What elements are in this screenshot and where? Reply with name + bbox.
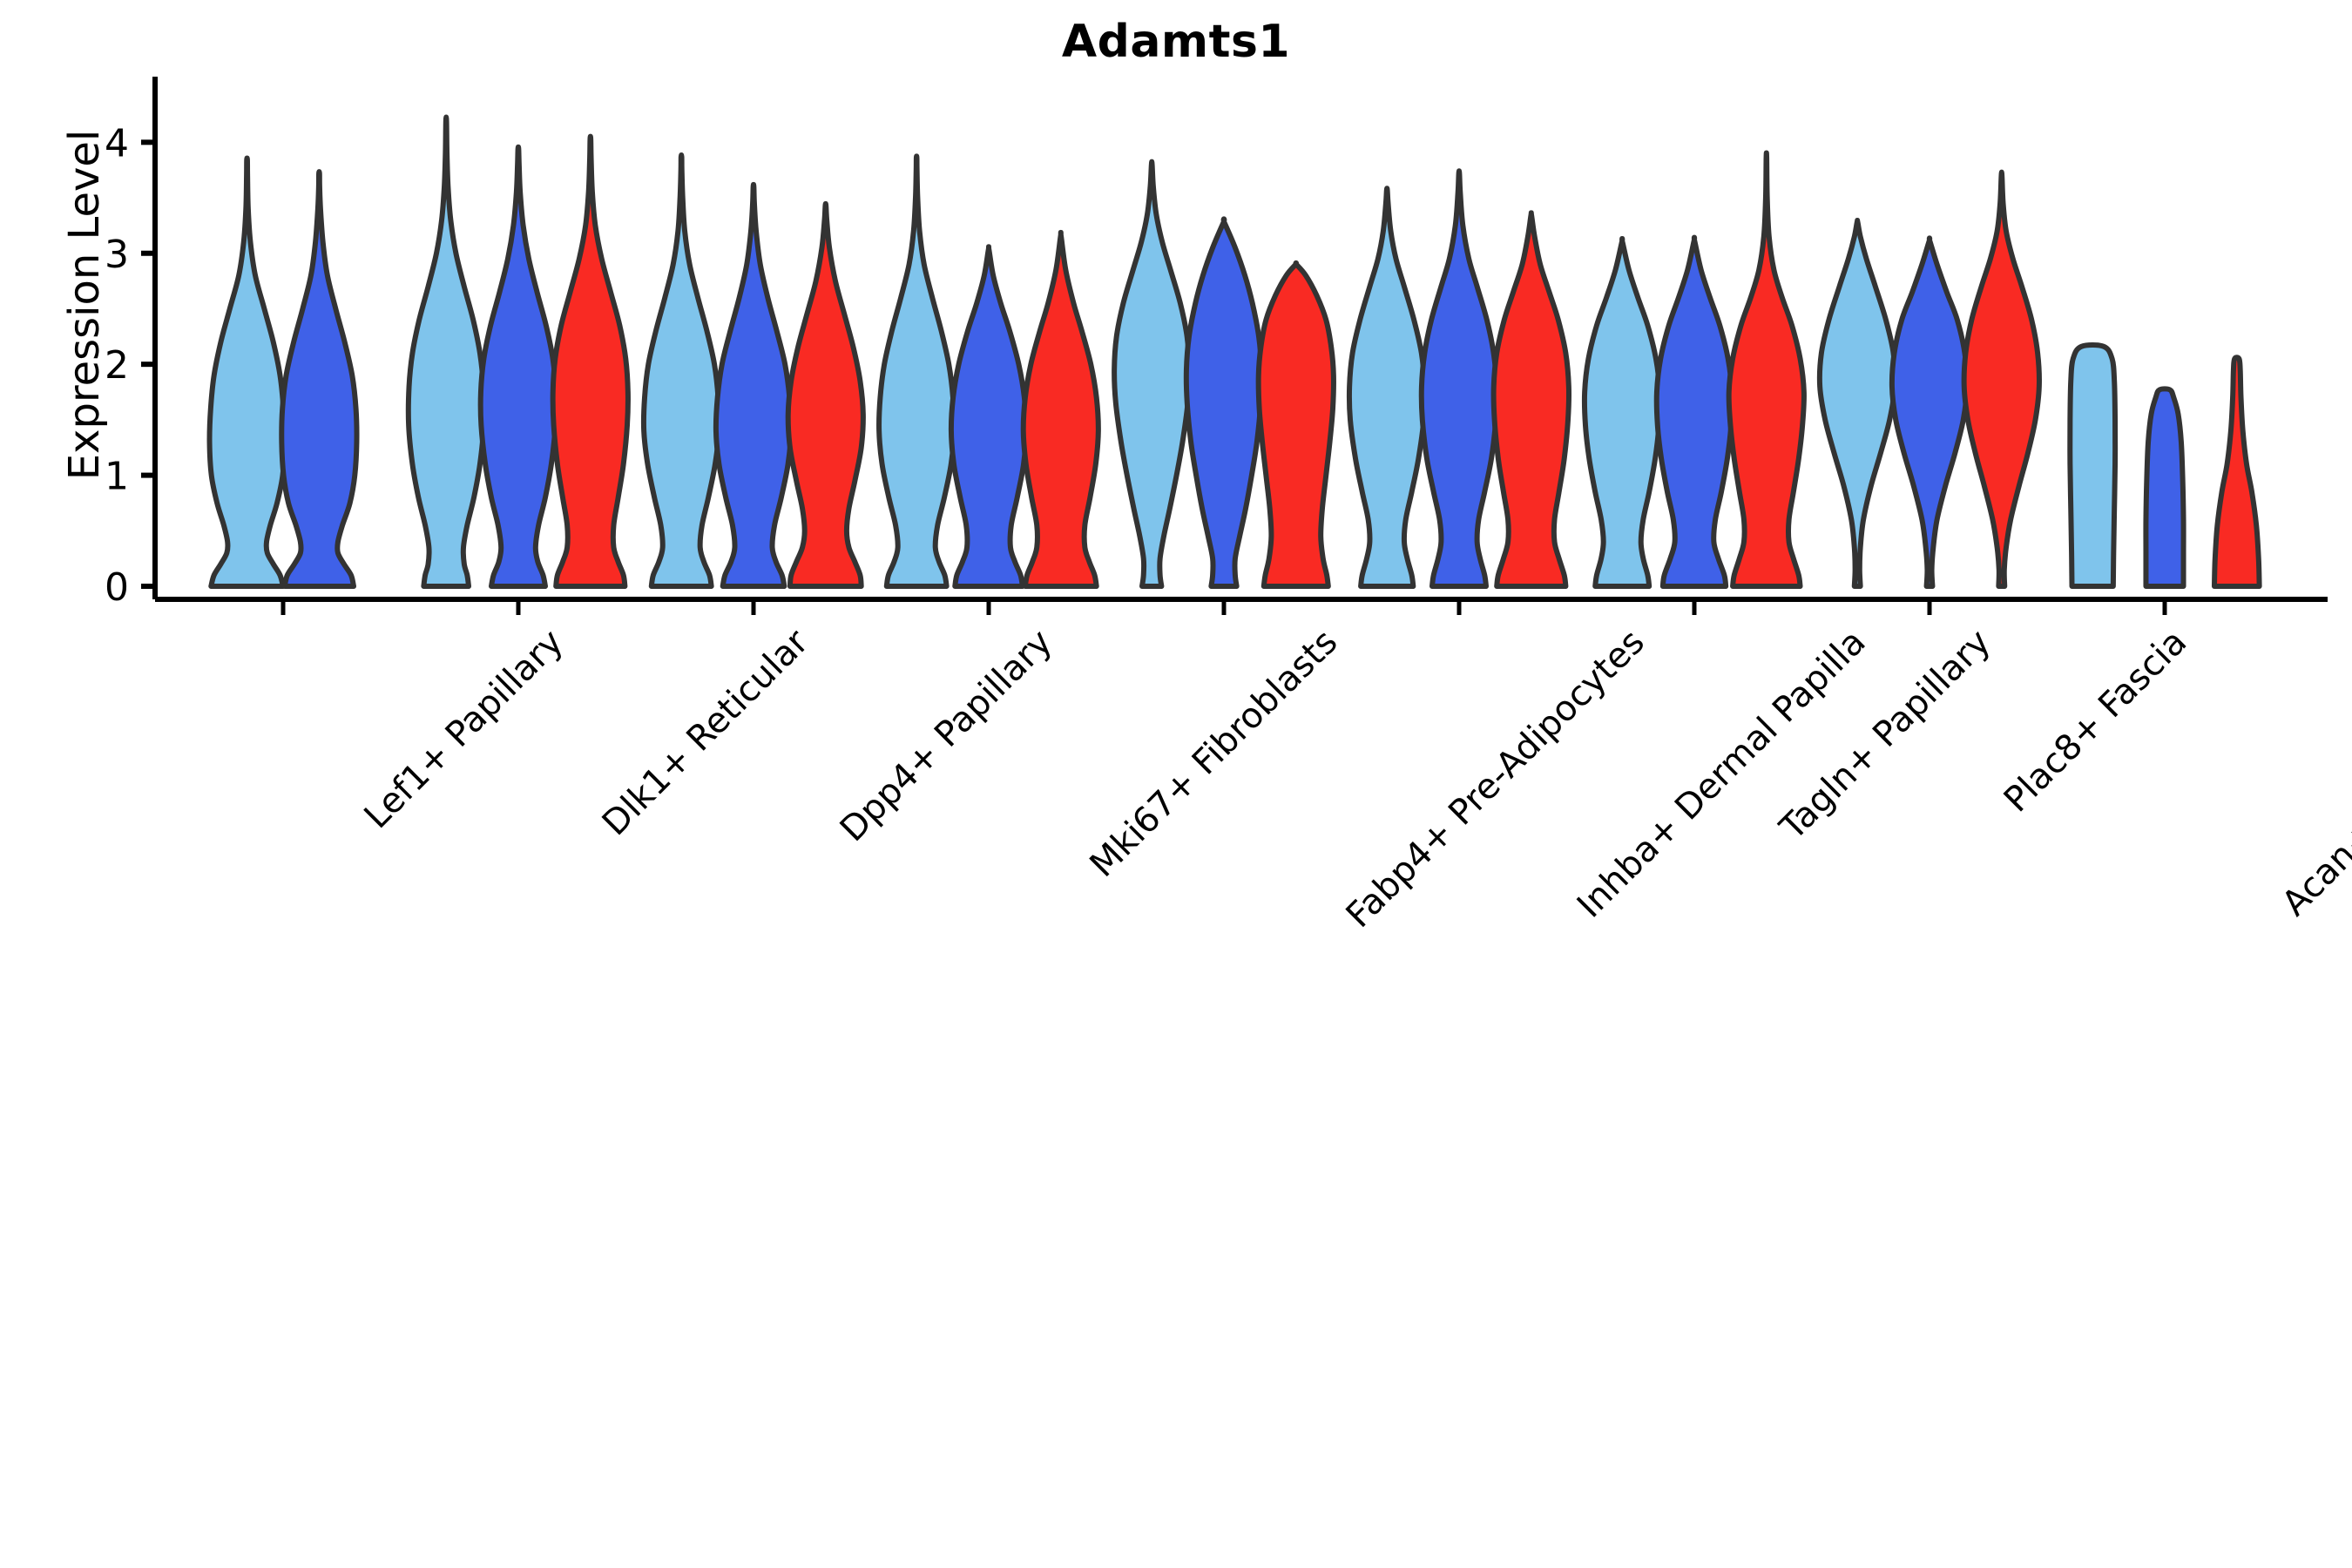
violin-group [1585, 152, 1804, 586]
violin-shape [2214, 357, 2260, 586]
violin-shape [879, 156, 954, 586]
violin-shape [1964, 172, 2039, 586]
y-axis-tick-label: 1 [105, 455, 129, 499]
y-axis-tick-label: 0 [105, 565, 129, 610]
violin-shape [1820, 220, 1896, 586]
violin-shape [210, 158, 285, 586]
violin-shape [1892, 238, 1967, 586]
violin-shape [2146, 389, 2183, 586]
y-axis-tick-label: 4 [105, 121, 129, 166]
violin-plot-figure: Adamts1 Expression Level 01234 Lef1+ Pap… [0, 0, 2352, 1568]
violin-shape [1349, 188, 1425, 586]
violin-group [210, 158, 357, 586]
violin-shape [1024, 233, 1098, 586]
violin-group [1114, 162, 1334, 586]
violin-group [1820, 172, 2039, 586]
violin-shape [716, 185, 791, 586]
violin-group [879, 156, 1098, 586]
violin-shape [1657, 238, 1733, 586]
violin-shape [1422, 171, 1497, 586]
violin-shape [553, 137, 628, 586]
violin-shape [644, 155, 720, 586]
violin-shape [409, 118, 484, 586]
y-axis-tick-label: 3 [105, 233, 129, 277]
violin-shape [281, 172, 356, 586]
violin-shape [1114, 162, 1189, 586]
violin-group [409, 118, 628, 586]
violin-group [644, 155, 863, 586]
violin-shape [1186, 219, 1261, 586]
violin-shape [2070, 345, 2115, 586]
violin-shape [1585, 239, 1660, 586]
violin-shape [481, 147, 557, 586]
violin-shape [788, 204, 863, 586]
violin-group [1349, 171, 1569, 586]
violin-shape [1729, 152, 1804, 586]
violin-shape [1494, 213, 1569, 586]
violin-shape [1259, 263, 1334, 586]
y-axis-tick-label: 2 [105, 343, 129, 388]
violin-group [2070, 345, 2259, 586]
violin-shape [951, 247, 1026, 586]
